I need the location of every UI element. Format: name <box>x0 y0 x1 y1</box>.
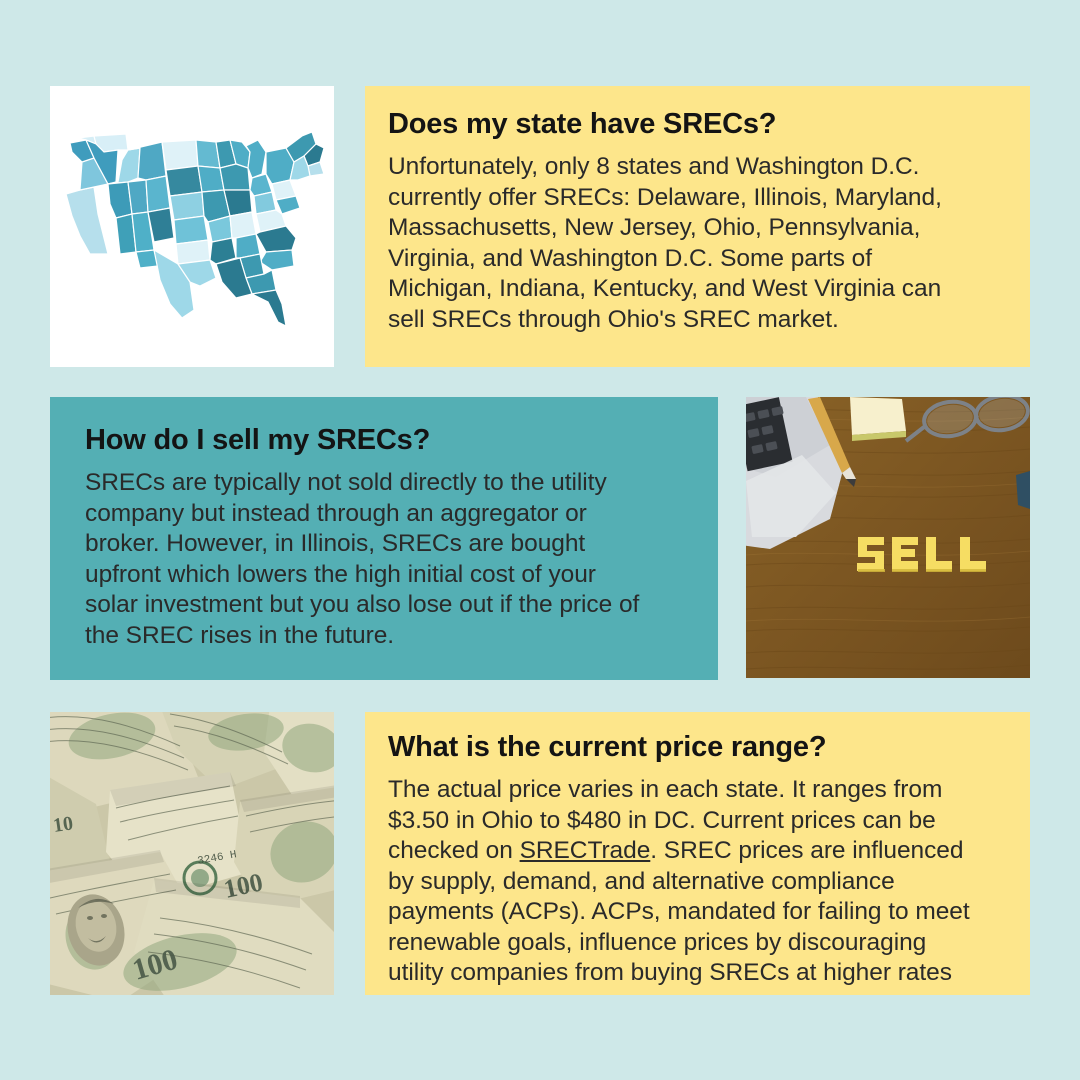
body-line: SRECs are typically not sold directly to… <box>85 468 698 499</box>
line-suffix: . SREC prices are influenced <box>650 837 963 864</box>
hundred-dollar-bills-image: 100 100 10 3246 H <box>50 712 334 995</box>
card-title: How do I sell my SRECs? <box>85 424 698 457</box>
body-line: broker. However, in Illinois, SRECs are … <box>85 529 698 560</box>
card-body: Unfortunately, only 8 states and Washing… <box>388 152 1006 335</box>
desk-photo-graphic <box>746 397 1030 678</box>
body-line: The actual price varies in each state. I… <box>388 775 1006 806</box>
body-line: payments (ACPs). ACPs, mandated for fail… <box>388 897 1006 928</box>
body-line: by supply, demand, and alternative compl… <box>388 867 1006 898</box>
body-line: upfront which lowers the high initial co… <box>85 560 698 591</box>
body-line: renewable goals, influence prices by dis… <box>388 928 1006 959</box>
body-line: Michigan, Indiana, Kentucky, and West Vi… <box>388 274 1006 305</box>
body-line: company but instead through an aggregato… <box>85 499 698 530</box>
infographic-canvas: Does my state have SRECs? Unfortunately,… <box>0 0 1080 1080</box>
body-line: Unfortunately, only 8 states and Washing… <box>388 152 1006 183</box>
body-line: Massachusetts, New Jersey, Ohio, Pennsyl… <box>388 213 1006 244</box>
sell-letters-desk-image <box>746 397 1030 678</box>
us-map-graphic <box>50 86 334 367</box>
card-how-do-i-sell-my-srecs: How do I sell my SRECs? SRECs are typica… <box>50 397 718 680</box>
body-line: sell SRECs through Ohio's SREC market. <box>388 305 1006 336</box>
us-states-map-image <box>50 86 334 367</box>
body-line-with-link: checked on SRECTrade. SREC prices are in… <box>388 836 1006 867</box>
card-title: What is the current price range? <box>388 731 1006 764</box>
body-line: solar investment but you also lose out i… <box>85 590 698 621</box>
body-line: Virginia, and Washington D.C. Some parts… <box>388 244 1006 275</box>
card-body: SRECs are typically not sold directly to… <box>85 468 698 651</box>
card-does-my-state-have-srecs: Does my state have SRECs? Unfortunately,… <box>365 86 1030 367</box>
srectrade-link[interactable]: SRECTrade <box>520 837 651 864</box>
card-title: Does my state have SRECs? <box>388 108 1006 141</box>
body-line: the SREC rises in the future. <box>85 621 698 652</box>
card-body: The actual price varies in each state. I… <box>388 775 1006 989</box>
body-line: currently offer SRECs: Delaware, Illinoi… <box>388 183 1006 214</box>
card-what-is-the-current-price-range: What is the current price range? The act… <box>365 712 1030 995</box>
money-photo-graphic: 100 100 10 3246 H <box>50 712 334 995</box>
svg-text:10: 10 <box>52 812 75 837</box>
body-line: $3.50 in Ohio to $480 in DC. Current pri… <box>388 806 1006 837</box>
line-prefix: checked on <box>388 837 520 864</box>
body-line: utility companies from buying SRECs at h… <box>388 958 1006 989</box>
